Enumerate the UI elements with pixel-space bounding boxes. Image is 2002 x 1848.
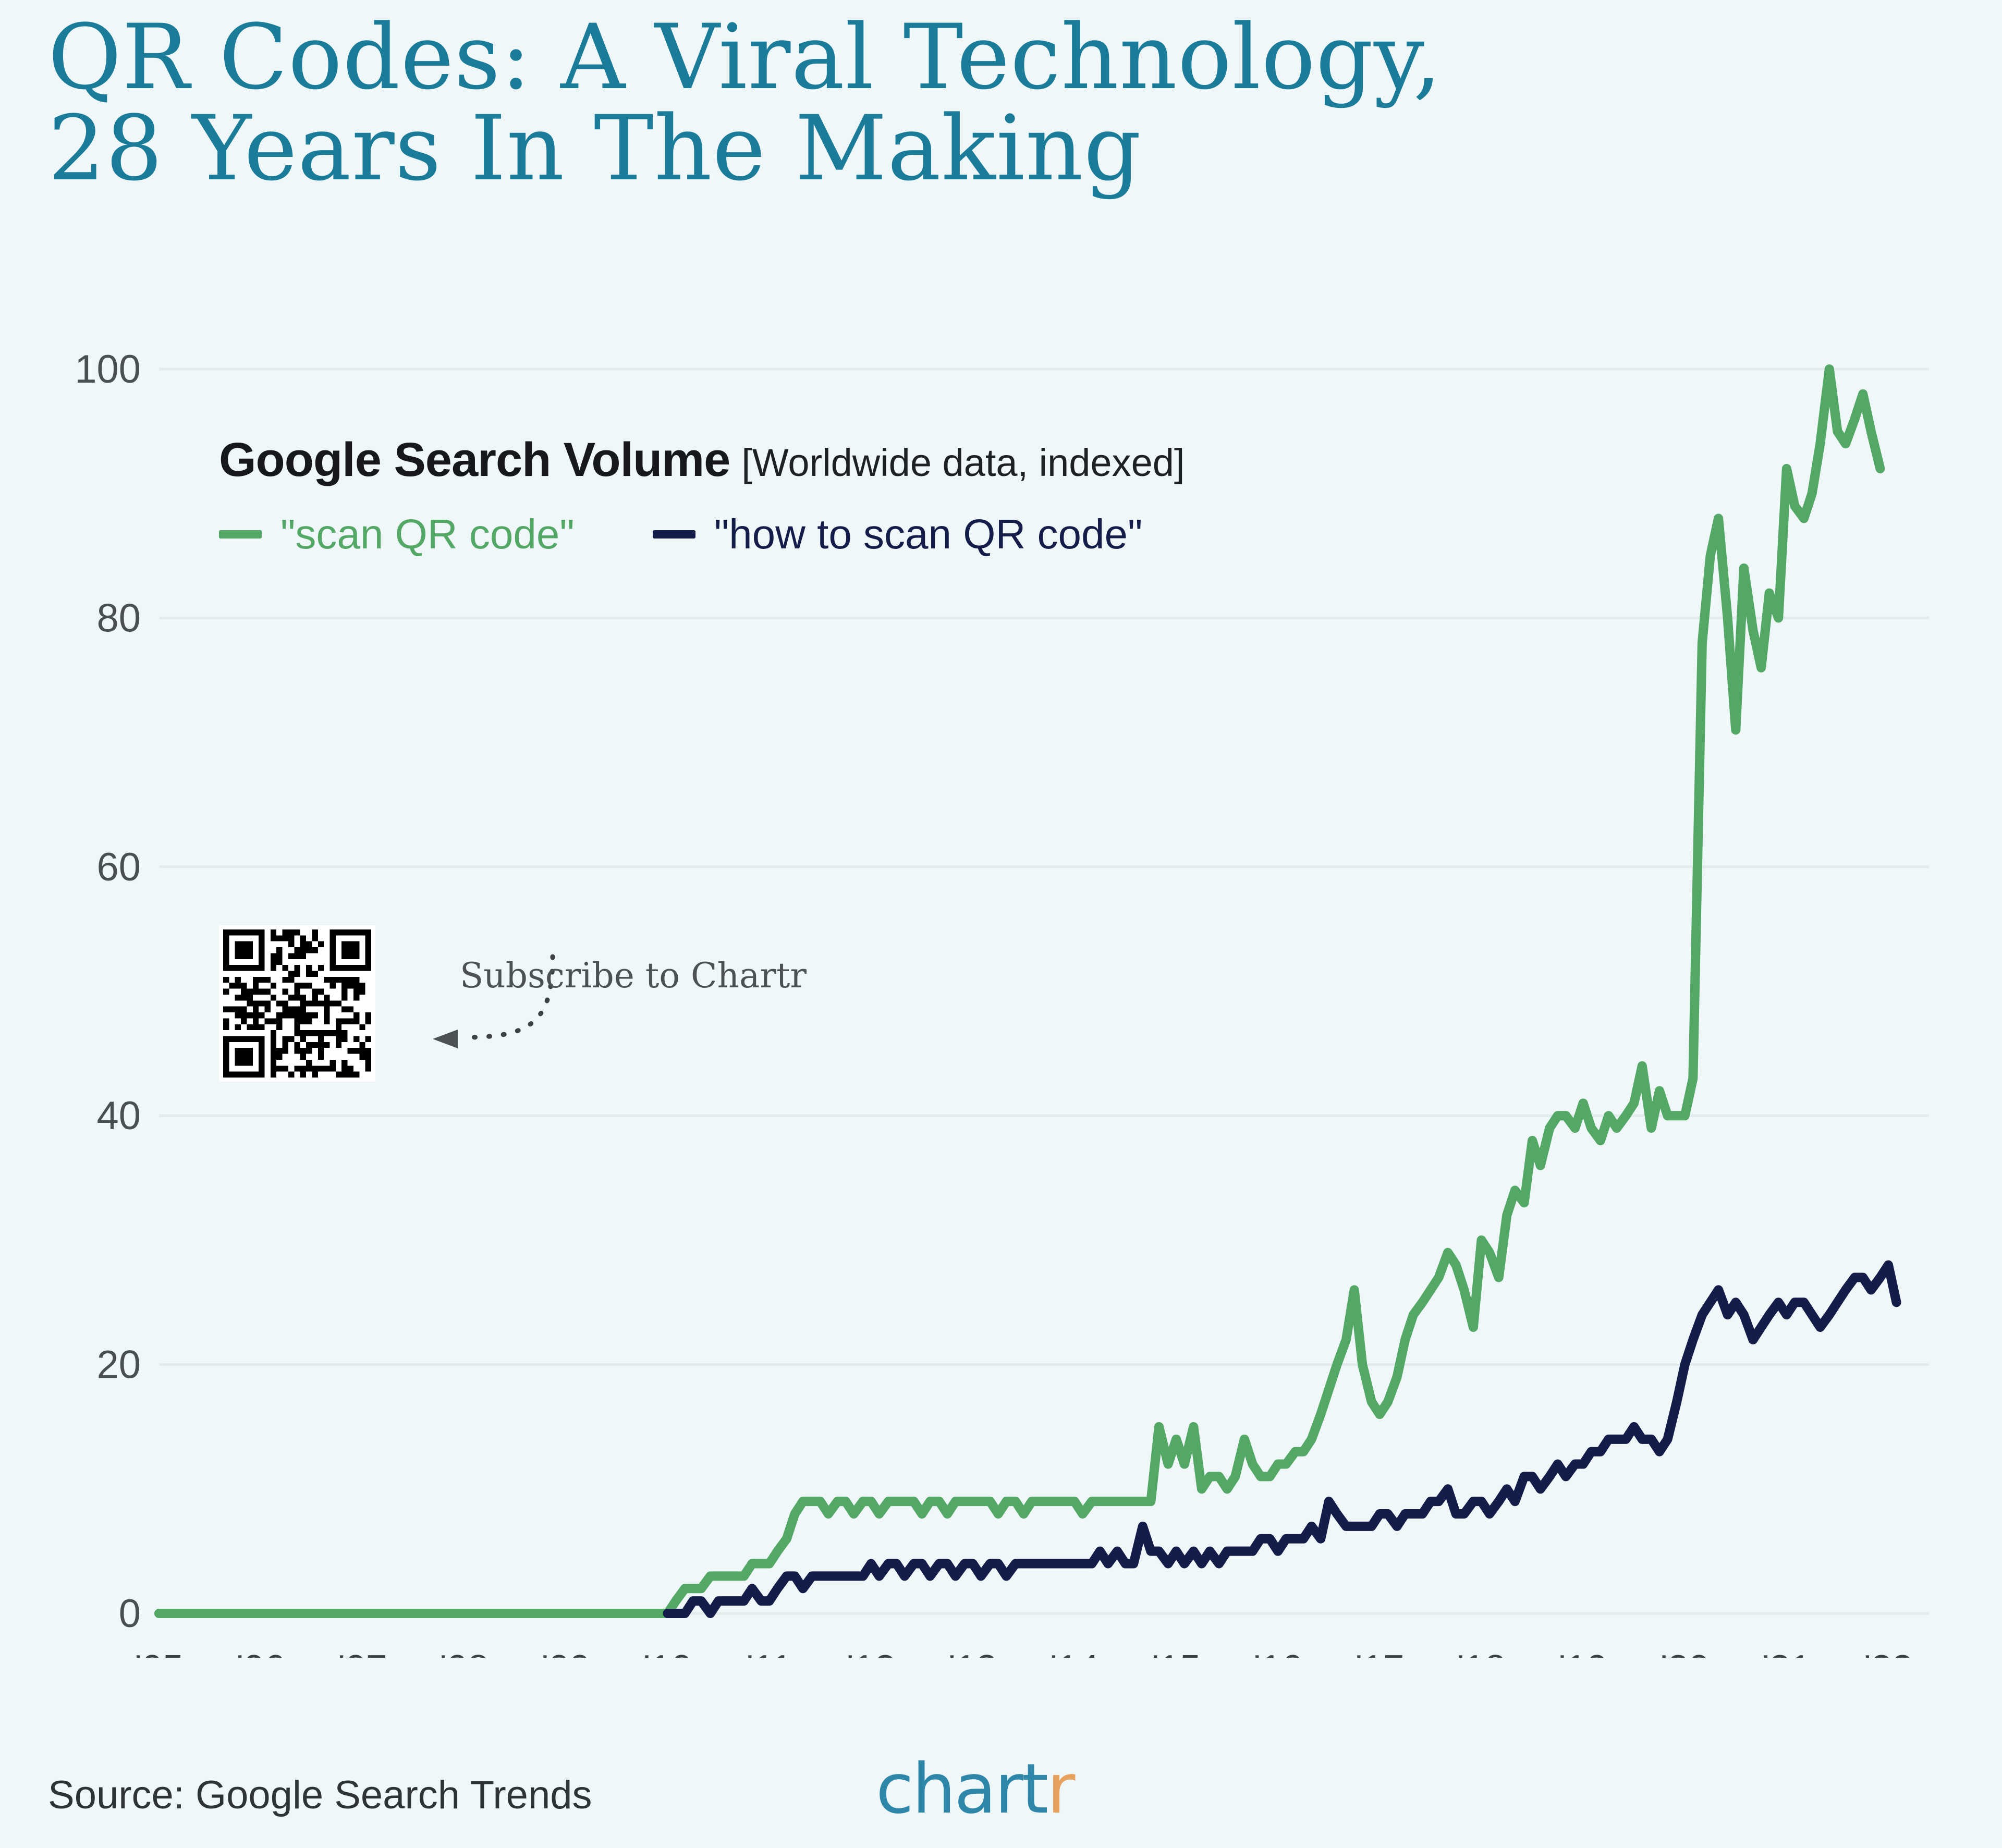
- y-axis-tick-label: 40: [96, 1094, 141, 1138]
- x-axis-tick-label: '14: [1050, 1648, 1099, 1658]
- x-axis-tick-label: '10: [643, 1648, 692, 1658]
- y-axis-tick-label: 20: [96, 1343, 141, 1387]
- x-axis-tick-label: '19: [1559, 1648, 1608, 1658]
- y-axis-tick-label: 100: [75, 347, 141, 391]
- legend-item-how-to-scan-qr-code[interactable]: "how to scan QR code": [653, 510, 1143, 558]
- y-axis-tick-labels: 020406080100: [75, 347, 141, 1636]
- x-axis-tick-label: '06: [236, 1648, 285, 1658]
- legend-heading-row: Google Search Volume [Worldwide data, in…: [219, 433, 1574, 487]
- legend-item-scan-qr-code[interactable]: "scan QR code": [219, 510, 575, 558]
- x-axis-tick-label: '22: [1864, 1648, 1913, 1658]
- legend-swatch-navy: [653, 530, 695, 539]
- legend-subtitle: [Worldwide data, indexed]: [741, 440, 1185, 485]
- x-axis-tick-label: '13: [948, 1648, 997, 1658]
- legend-swatch-green: [219, 530, 262, 539]
- x-axis-tick-label: '21: [1762, 1648, 1811, 1658]
- curved-arrow-icon: [396, 925, 730, 1082]
- x-axis-tick-label: '15: [1152, 1648, 1201, 1658]
- x-axis-tick-labels: '05'06'07'08'09'10'11'12'13'14'15'16'17'…: [135, 1648, 1913, 1658]
- x-axis-tick-label: '17: [1355, 1648, 1404, 1658]
- chartr-logo-part1: chart: [876, 1749, 1047, 1829]
- x-axis-tick-label: '20: [1661, 1648, 1710, 1658]
- series-line: [668, 1265, 1897, 1613]
- legend-title: Google Search Volume: [219, 433, 730, 487]
- qr-code-image: [223, 929, 371, 1078]
- source-note: Source: Google Search Trends: [48, 1772, 592, 1818]
- x-axis-tick-label: '11: [746, 1648, 792, 1658]
- y-axis-tick-label: 80: [96, 596, 141, 640]
- subscribe-annotation-text: Subscribe to Chartr: [460, 956, 807, 996]
- chart-legend: Google Search Volume [Worldwide data, in…: [219, 433, 1574, 558]
- x-axis-tick-label: '05: [135, 1648, 184, 1658]
- chartr-logo: chartr: [876, 1749, 1073, 1829]
- x-axis-tick-label: '07: [338, 1648, 387, 1658]
- chartr-logo-part2: r: [1047, 1749, 1073, 1829]
- page-title: QR Codes: A Viral Technology, 28 Years I…: [48, 11, 1768, 194]
- x-axis-tick-label: '12: [847, 1648, 896, 1658]
- qr-code[interactable]: [219, 925, 375, 1082]
- x-axis-tick-label: '08: [440, 1648, 489, 1658]
- x-axis-tick-label: '09: [542, 1648, 591, 1658]
- legend-label-scan-qr-code: "scan QR code": [280, 510, 575, 558]
- subscribe-qr-block[interactable]: Subscribe to Chartr: [219, 925, 396, 1082]
- x-axis-tick-label: '18: [1457, 1648, 1506, 1658]
- y-axis-tick-label: 60: [96, 845, 141, 889]
- y-axis-tick-label: 0: [119, 1592, 141, 1636]
- legend-label-how-to-scan-qr-code: "how to scan QR code": [714, 510, 1143, 558]
- x-axis-tick-label: '16: [1253, 1648, 1302, 1658]
- legend-items: "scan QR code" "how to scan QR code": [219, 510, 1574, 558]
